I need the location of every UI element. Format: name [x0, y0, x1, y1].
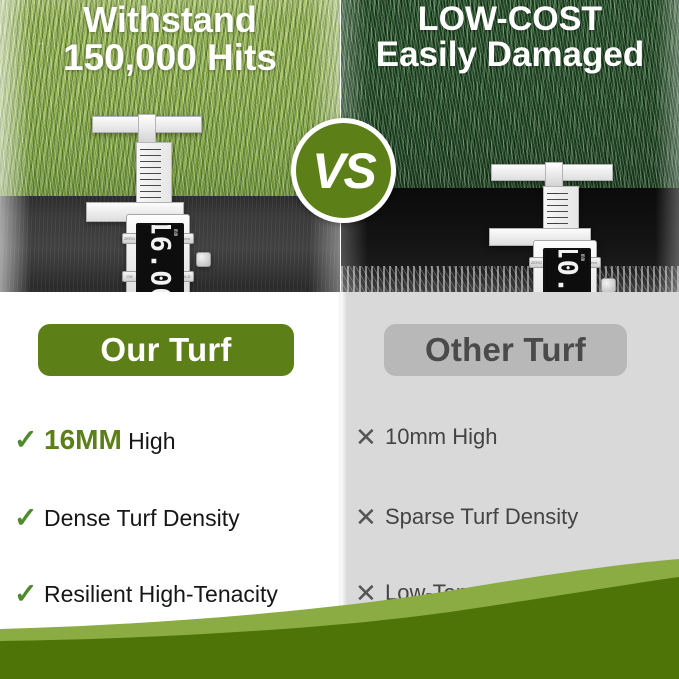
- feature-label-our-height: 16MM High: [44, 424, 176, 456]
- right-headline-line1: LOW-COST: [341, 2, 679, 37]
- feature-label-other-density: Sparse Turf Density: [385, 504, 578, 530]
- check-icon: ✓: [14, 580, 44, 608]
- photo-comparison-strip: ZERO ON mm HLD mm 16.00: [0, 0, 679, 292]
- caliper-onoff-button[interactable]: ON: [122, 271, 137, 282]
- left-headline: Withstand 150,000 Hits: [0, 2, 340, 76]
- caliper-display-housing: ZERO ON mm HLD mm 16.00: [126, 214, 190, 292]
- vs-badge-label: VS: [312, 146, 375, 196]
- our-turf-panel: Our Turf ✓ 16MM High ✓ Dense Turf Densit…: [0, 292, 337, 679]
- caliper-reading-value: 16.00: [145, 223, 176, 292]
- feature-row-other-tenacity: ✕ Low-Tenacity Support: [355, 580, 597, 606]
- digital-caliper-right: ZERO ON mm HLD mm 10.00: [491, 148, 626, 292]
- digital-caliper-left: ZERO ON mm HLD mm 16.00: [86, 102, 216, 292]
- other-turf-banner-label: Other Turf: [425, 331, 586, 369]
- caliper-thumb-wheel[interactable]: [601, 278, 616, 292]
- feature-label-our-tenacity: Resilient High-Tenacity: [44, 581, 278, 608]
- right-headline: LOW-COST Easily Damaged: [341, 2, 679, 72]
- check-icon: ✓: [14, 504, 44, 532]
- caliper-zero-button[interactable]: ZERO: [122, 233, 137, 244]
- feature-label-our-density: Dense Turf Density: [44, 505, 240, 532]
- feature-row-our-height: ✓ 16MM High: [14, 424, 176, 456]
- comparison-infographic: ZERO ON mm HLD mm 16.00: [0, 0, 679, 679]
- our-turf-banner-label: Our Turf: [100, 331, 231, 369]
- feature-row-other-height: ✕ 10mm High: [355, 424, 497, 450]
- cross-icon: ✕: [355, 504, 385, 530]
- vs-badge: VS: [291, 118, 396, 223]
- other-turf-panel: Other Turf ✕ 10mm High ✕ Sparse Turf Den…: [341, 292, 679, 679]
- caliper-lcd-screen: mm 10.00: [543, 248, 591, 292]
- feature-label-other-height: 10mm High: [385, 424, 497, 450]
- left-headline-line2: 150,000 Hits: [0, 39, 340, 77]
- feature-label-other-tenacity: Low-Tenacity Support: [385, 580, 597, 606]
- check-icon: ✓: [14, 426, 44, 454]
- right-headline-line2: Easily Damaged: [341, 37, 679, 73]
- feature-row-our-tenacity: ✓ Resilient High-Tenacity: [14, 580, 278, 608]
- other-turf-banner: Other Turf: [384, 324, 627, 376]
- caliper-reading-value: 10.00: [552, 248, 583, 292]
- cross-icon: ✕: [355, 424, 385, 450]
- cross-icon: ✕: [355, 580, 385, 606]
- feature-row-other-density: ✕ Sparse Turf Density: [355, 504, 578, 530]
- feature-row-our-density: ✓ Dense Turf Density: [14, 504, 240, 532]
- caliper-lcd-screen: mm 16.00: [136, 223, 184, 292]
- feature-highlight-16mm: 16MM: [44, 424, 122, 455]
- feature-suffix-high: High: [122, 428, 176, 454]
- caliper-zero-button[interactable]: ZERO: [529, 257, 544, 268]
- our-turf-banner: Our Turf: [38, 324, 294, 376]
- caliper-display-housing: ZERO ON mm HLD mm 10.00: [533, 240, 597, 292]
- caliper-thumb-wheel[interactable]: [196, 252, 211, 267]
- left-headline-line1: Withstand: [0, 2, 340, 39]
